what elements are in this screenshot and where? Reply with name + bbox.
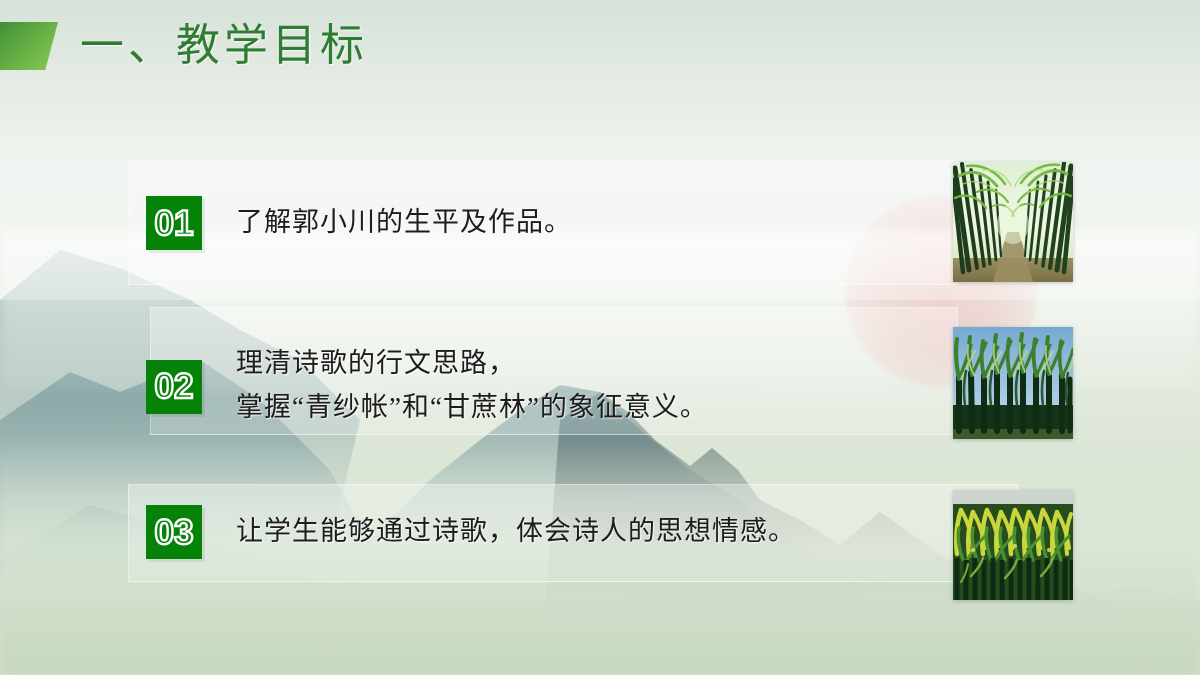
goal-row-1: 01 了解郭小川的生平及作品。 [146,196,572,250]
goal-text-line: 了解郭小川的生平及作品。 [236,201,572,245]
goal-text-line: 让学生能够通过诗歌，体会诗人的思想情感。 [236,510,796,554]
goal-number-badge-2: 02 [146,360,202,414]
goal-text-1: 了解郭小川的生平及作品。 [236,201,572,245]
goal-number-3: 03 [155,515,194,550]
goal-number-2: 02 [155,369,194,404]
goal-number-badge-3: 03 [146,505,202,559]
goal-row-2: 02 理清诗歌的行文思路， 掌握“青纱帐”和“甘蔗林”的象征意义。 [146,344,708,429]
goal-row-3: 03 让学生能够通过诗歌，体会诗人的思想情感。 [146,505,796,559]
slide-title-bar: 一、教学目标 [0,22,368,70]
goal-text-2: 理清诗歌的行文思路， 掌握“青纱帐”和“甘蔗林”的象征意义。 [236,342,708,429]
sugarcane-grove-photo [953,162,1073,282]
goal-text-line: 掌握“青纱帐”和“甘蔗林”的象征意义。 [236,386,708,430]
goal-number-badge-1: 01 [146,196,202,250]
slide-canvas: 一、教学目标 01 了解郭小川的生平及作品。 02 理清诗歌的行文思路， 掌握“… [0,0,1200,675]
goal-text-3: 让学生能够通过诗歌，体会诗人的思想情感。 [236,510,796,554]
cornfield-photo [953,490,1073,600]
goal-number-1: 01 [155,206,194,241]
sugarcane-field-photo [953,327,1073,439]
goal-text-line: 理清诗歌的行文思路， [236,342,708,386]
title-parallelogram-icon [0,22,58,70]
page-title: 一、教学目标 [80,24,368,68]
